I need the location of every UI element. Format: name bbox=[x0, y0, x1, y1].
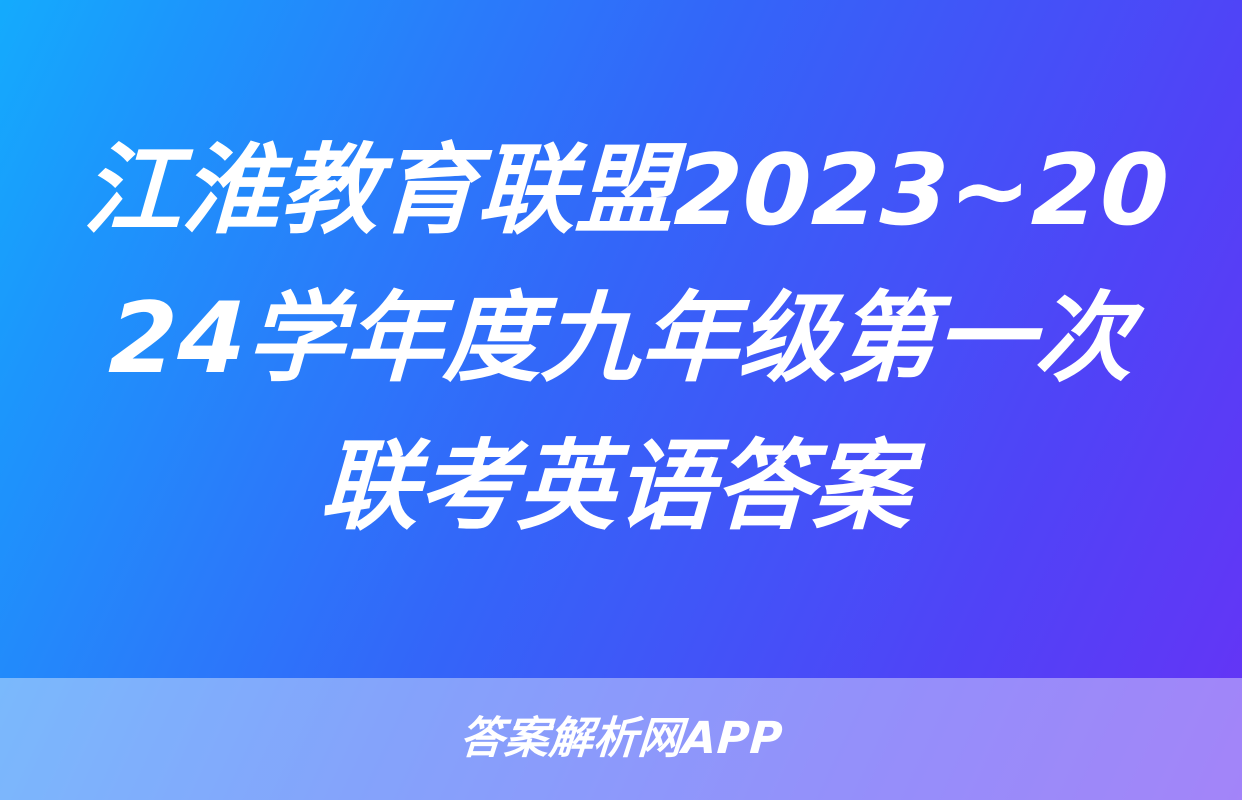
watermark-band: 答案解析网APP bbox=[0, 678, 1242, 800]
watermark-brand-label: 答案解析网APP bbox=[458, 714, 784, 764]
page-title: 江淮教育联盟2023~2024学年度九年级第一次联考英语答案 bbox=[53, 117, 1189, 561]
answer-poster-card: 江淮教育联盟2023~2024学年度九年级第一次联考英语答案 答案解析网APP bbox=[0, 0, 1242, 800]
poster-title-area: 江淮教育联盟2023~2024学年度九年级第一次联考英语答案 bbox=[0, 0, 1242, 678]
